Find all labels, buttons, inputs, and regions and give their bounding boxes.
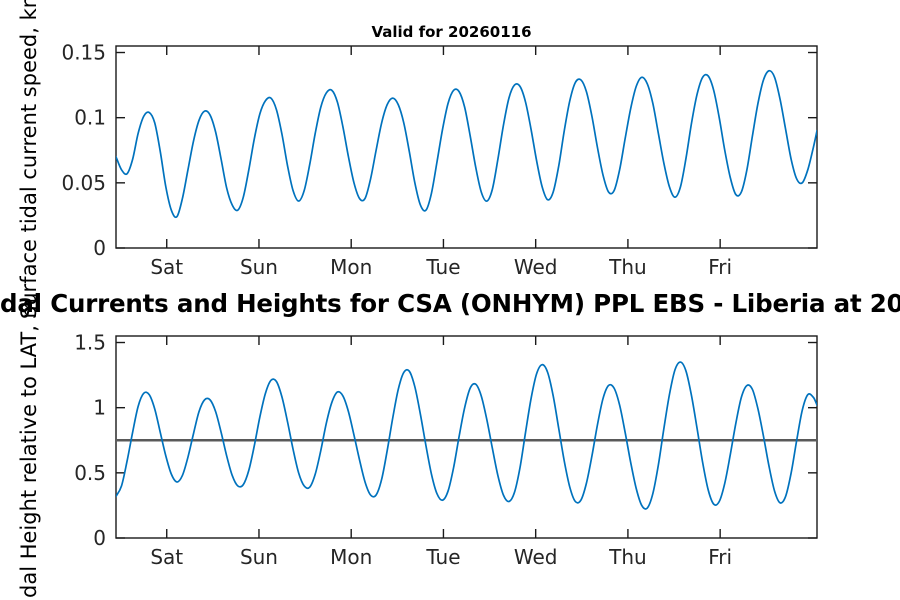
x-tick-label: Fri	[708, 255, 732, 279]
chart-subtitle: Valid for 20260116	[371, 23, 531, 41]
x-tick-label: Tue	[425, 545, 460, 569]
plot-box	[116, 336, 817, 538]
y-axis-title: Surface tidal current speed, kn	[17, 0, 41, 319]
y-tick-label: 0.15	[61, 41, 106, 65]
x-tick-label: Sat	[150, 545, 183, 569]
x-tick-label: Thu	[608, 545, 647, 569]
chart-tidal-height-relative-to-lat: 00.511.5SatSunMonTueWedThuFriTidal Heigh…	[17, 298, 817, 600]
y-tick-label: 0	[93, 236, 106, 260]
figure-canvas: 00.050.10.15SatSunMonTueWedThuFriValid f…	[0, 0, 900, 600]
x-tick-label: Mon	[330, 255, 372, 279]
y-axis-title: Tidal Height relative to LAT, m	[17, 298, 41, 600]
y-tick-label: 0.1	[74, 106, 106, 130]
y-tick-label: 0.05	[61, 171, 106, 195]
x-tick-label: Fri	[708, 545, 732, 569]
figure-main-title: dal Currents and Heights for CSA (ONHYM)…	[0, 289, 900, 318]
x-tick-label: Tue	[425, 255, 460, 279]
x-tick-label: Thu	[608, 255, 647, 279]
figure-main-title-text: dal Currents and Heights for CSA (ONHYM)…	[0, 289, 900, 318]
x-tick-label: Sat	[150, 255, 183, 279]
x-tick-label: Sun	[240, 255, 278, 279]
x-tick-label: Wed	[514, 545, 558, 569]
x-tick-label: Sun	[240, 545, 278, 569]
y-tick-label: 1.5	[74, 331, 106, 355]
y-tick-label: 1	[93, 396, 106, 420]
y-tick-label: 0.5	[74, 461, 106, 485]
x-tick-label: Mon	[330, 545, 372, 569]
plot-box	[116, 46, 817, 248]
chart-surface-tidal-current-speed: 00.050.10.15SatSunMonTueWedThuFriValid f…	[17, 0, 817, 319]
y-tick-label: 0	[93, 526, 106, 550]
x-tick-label: Wed	[514, 255, 558, 279]
